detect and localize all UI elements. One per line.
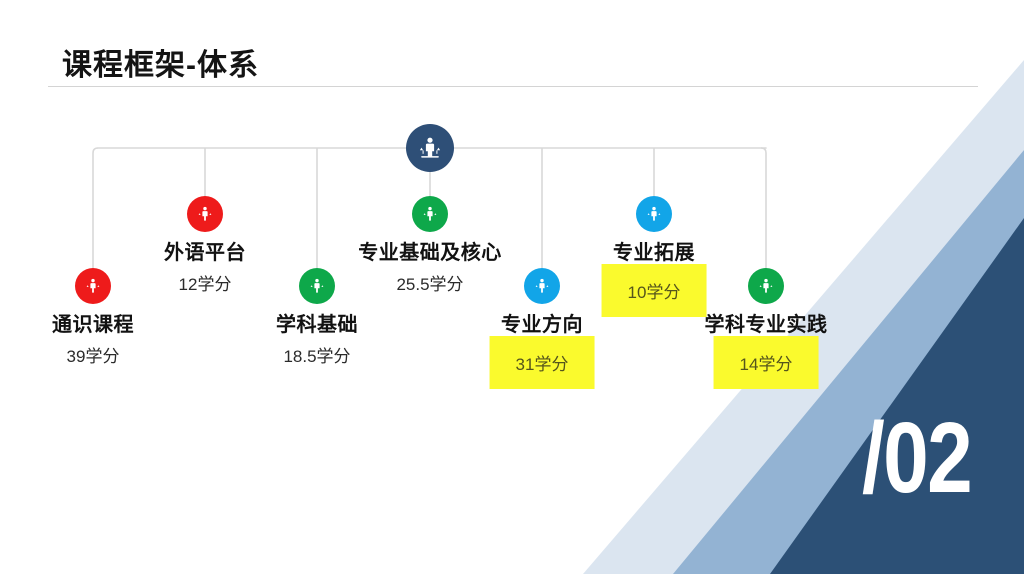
presenter-icon bbox=[415, 133, 445, 163]
node-label: 学科基础 bbox=[276, 308, 358, 337]
node-credit-highlighted: 10学分 bbox=[602, 264, 707, 317]
page-number: /02 bbox=[862, 408, 971, 508]
node-credit: 12学分 bbox=[179, 270, 232, 295]
person-icon bbox=[421, 205, 439, 223]
node-circle-general-education bbox=[75, 268, 111, 304]
connector-corner-7 bbox=[761, 148, 766, 153]
node-circle-discipline-major-practice bbox=[748, 268, 784, 304]
slide-canvas: 课程框架-体系 bbox=[0, 0, 1024, 574]
person-icon bbox=[84, 277, 102, 295]
node-circle-major-extension bbox=[636, 196, 672, 232]
hub-circle bbox=[406, 124, 454, 172]
node-label: 通识课程 bbox=[52, 308, 134, 337]
node-credit-highlighted: 14学分 bbox=[714, 336, 819, 389]
person-icon bbox=[757, 277, 775, 295]
person-icon bbox=[308, 277, 326, 295]
node-label: 专业基础及核心 bbox=[358, 236, 502, 265]
node-credit: 39学分 bbox=[67, 342, 120, 367]
node-label: 专业拓展 bbox=[613, 236, 695, 265]
person-icon bbox=[533, 277, 551, 295]
node-label: 学科专业实践 bbox=[705, 308, 828, 337]
person-icon bbox=[196, 205, 214, 223]
node-label: 专业方向 bbox=[501, 308, 583, 337]
node-circle-major-direction bbox=[524, 268, 560, 304]
person-icon bbox=[645, 205, 663, 223]
node-label: 外语平台 bbox=[164, 236, 246, 265]
node-credit-highlighted: 31学分 bbox=[490, 336, 595, 389]
node-circle-foreign-language-platform bbox=[187, 196, 223, 232]
node-credit: 18.5学分 bbox=[283, 342, 350, 367]
node-circle-major-foundation-core bbox=[412, 196, 448, 232]
connector-corner-1 bbox=[93, 148, 98, 153]
node-circle-discipline-foundation bbox=[299, 268, 335, 304]
node-credit: 25.5学分 bbox=[396, 270, 463, 295]
